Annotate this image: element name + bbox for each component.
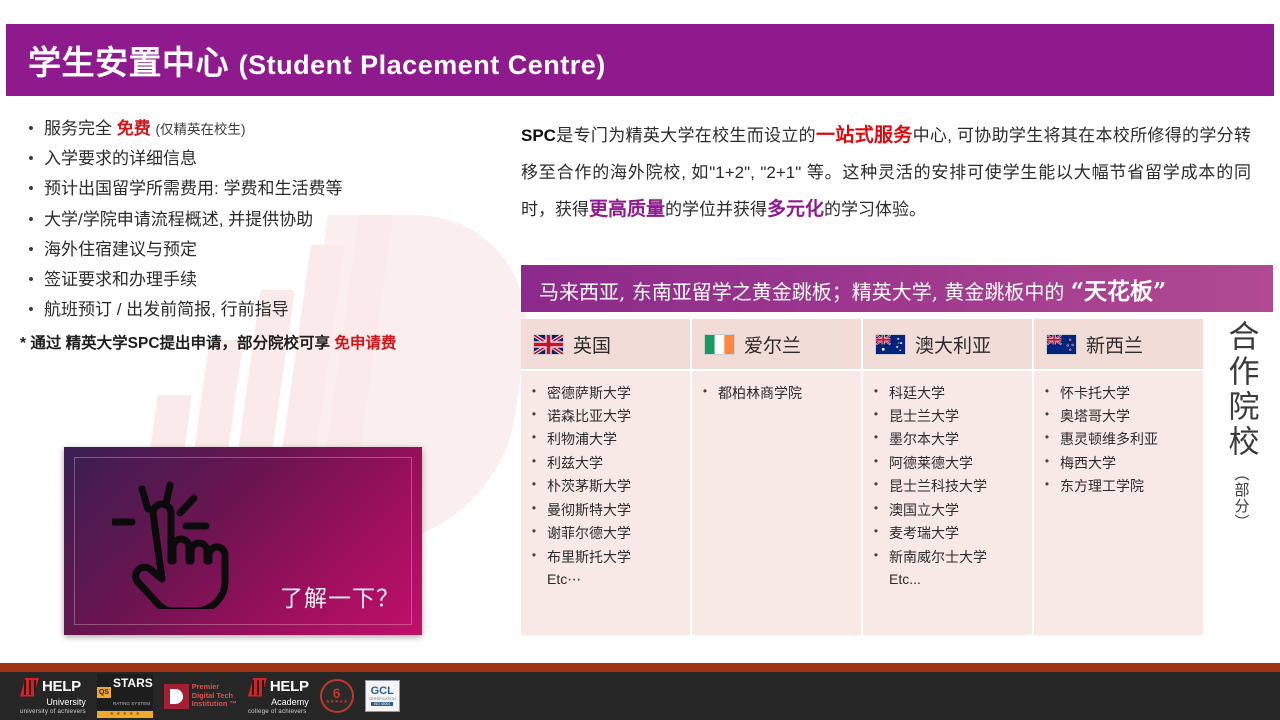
bullet-dot-icon: •	[18, 211, 44, 229]
etc-label: Etc⋯	[521, 569, 690, 588]
bullet-dot-icon: •	[863, 430, 889, 446]
list-item-text: 服务完全	[44, 119, 117, 138]
table-header-ireland: 爱尔兰	[692, 319, 861, 371]
table-header-australia: 澳大利亚	[863, 319, 1032, 371]
list-item: •怀卡托大学	[1034, 381, 1203, 404]
bullet-dot-icon: •	[521, 548, 547, 564]
bullet-dot-icon: •	[863, 384, 889, 400]
paragraph-highlight-one-stop: 一站式服务	[816, 125, 913, 146]
list-item: •墨尔本大学	[863, 428, 1032, 451]
university-name: 利物浦大学	[547, 430, 690, 448]
bullet-dot-icon: •	[18, 120, 44, 138]
six-star-stars: ★★★★★	[325, 700, 347, 705]
table-header-uk: 英国	[521, 319, 690, 371]
bullet-dot-icon: •	[1034, 430, 1060, 446]
list-item: • 预计出国留学所需费用: 学费和生活费等	[18, 180, 508, 199]
bullet-dot-icon: •	[863, 454, 889, 470]
premier-digital-tech-institution-logo: Premier Digital Tech Institution ™	[164, 679, 237, 713]
pdti-line-3: Institution ™	[192, 699, 237, 708]
gcl-iso: ISO 45001	[371, 702, 393, 706]
page-title-cn: 学生安置中心	[28, 44, 229, 81]
university-list-ireland: •都柏林商学院	[692, 371, 861, 635]
help-university-word: HELP	[42, 680, 81, 694]
page-title: 学生安置中心 (Student Placement Centre)	[6, 36, 606, 84]
golden-springboard-banner: 马来西亚, 东南亚留学之黄金跳板；精英大学, 黄金跳板中的 “天花板”	[521, 265, 1273, 312]
paragraph-part-3: 的学位并获得	[665, 200, 767, 219]
paragraph-highlight-diverse: 多元化	[767, 199, 824, 220]
list-item-suffix: (仅精英在校生)	[155, 122, 245, 137]
list-item: •朴茨茅斯大学	[521, 475, 690, 498]
flag-newzealand-icon	[1046, 334, 1077, 355]
paragraph-spc-label: SPC	[521, 126, 556, 145]
etc-label: Etc...	[863, 569, 1032, 587]
bullet-dot-icon: •	[521, 407, 547, 423]
university-name: 利兹大学	[547, 454, 690, 472]
university-name: 昆士兰科技大学	[889, 477, 1032, 495]
bullet-dot-icon: •	[863, 477, 889, 493]
university-name: 东方理工学院	[1060, 477, 1203, 495]
university-name: 麦考瑞大学	[889, 524, 1032, 542]
qs-stars-word: STARS	[113, 676, 153, 690]
bullet-dot-icon: •	[863, 524, 889, 540]
bullet-dot-icon: •	[521, 501, 547, 517]
bullet-dot-icon: •	[18, 180, 44, 198]
partner-schools-vertical-label: 合作院校 （部分）	[1215, 320, 1267, 530]
spc-description-paragraph: SPC是专门为精英大学在校生而设立的一站式服务中心, 可协助学生将其在本校所修得…	[521, 117, 1251, 230]
university-list-uk: •密德萨斯大学 •诺森比亚大学 •利物浦大学 •利兹大学 •朴茨茅斯大学 •曼彻…	[521, 371, 690, 635]
bullet-dot-icon: •	[1034, 454, 1060, 470]
list-item: •麦考瑞大学	[863, 522, 1032, 545]
list-item: •昆士兰科技大学	[863, 475, 1032, 498]
list-item: •曼彻斯特大学	[521, 498, 690, 521]
list-item-label: 入学要求的详细信息	[44, 150, 508, 169]
bullet-dot-icon: •	[18, 241, 44, 259]
bullet-dot-icon: •	[863, 501, 889, 517]
list-item: •布里斯托大学	[521, 545, 690, 568]
bullet-dot-icon: •	[18, 271, 44, 289]
list-item: •诺森比亚大学	[521, 404, 690, 427]
list-item: •新南威尔士大学	[863, 545, 1032, 568]
flag-australia-icon	[875, 334, 906, 355]
learn-more-promo-card[interactable]: 了解一下？	[64, 447, 422, 635]
university-name: 曼彻斯特大学	[547, 501, 690, 519]
application-fee-note-highlight: 免申请费	[334, 335, 396, 352]
list-item: •科廷大学	[863, 381, 1032, 404]
paragraph-part-1: 是专门为精英大学在校生而设立的	[556, 126, 816, 145]
list-item-label: 服务完全 免费 (仅精英在校生)	[44, 120, 508, 139]
banner-text: 马来西亚, 东南亚留学之黄金跳板；精英大学, 黄金跳板中的 “天花板”	[521, 272, 1166, 306]
university-name: 墨尔本大学	[889, 430, 1032, 448]
pdti-mark-icon	[164, 684, 189, 709]
list-item-label: 大学/学院申请流程概述, 并提供协助	[44, 211, 508, 230]
flag-ireland-icon	[704, 334, 735, 355]
country-name-ireland: 爱尔兰	[744, 331, 801, 358]
qs-stars-logo: QS STARS RATING SYSTEM ★★★★★	[97, 679, 153, 713]
university-name: 新南威尔士大学	[889, 548, 1032, 566]
bullet-dot-icon: •	[863, 407, 889, 423]
footer-bar: HELP University university of achievers …	[0, 672, 1280, 720]
university-name: 澳国立大学	[889, 501, 1032, 519]
paragraph-highlight-quality: 更高质量	[589, 199, 665, 220]
slide-title-bar: 学生安置中心 (Student Placement Centre)	[6, 24, 1274, 96]
university-name: 科廷大学	[889, 384, 1032, 402]
partner-universities-table: 英国 •密德萨斯大学 •诺森比亚大学 •利物浦大学 •利兹大学 •朴茨茅斯大学 …	[521, 319, 1203, 635]
list-item-label: 签证要求和办理手续	[44, 271, 508, 290]
list-item: •东方理工学院	[1034, 475, 1203, 498]
list-item: • 入学要求的详细信息	[18, 150, 508, 169]
page-title-en: (Student Placement Centre)	[239, 50, 606, 80]
country-name-australia: 澳大利亚	[915, 331, 991, 358]
list-item: • 签证要求和办理手续	[18, 271, 508, 290]
list-item: • 大学/学院申请流程概述, 并提供协助	[18, 211, 508, 230]
list-item-label: 海外住宿建议与预定	[44, 241, 508, 260]
list-item: •昆士兰大学	[863, 404, 1032, 427]
university-name: 昆士兰大学	[889, 407, 1032, 425]
qs-badge: QS	[97, 687, 111, 698]
application-fee-note: * 通过 精英大学SPC提出申请，部分院校可享 免申请费	[18, 331, 508, 353]
qs-stars-rating: ★★★★★	[97, 711, 153, 718]
help-university-sub: University	[20, 697, 86, 707]
university-name: 阿德莱德大学	[889, 454, 1032, 472]
bullet-dot-icon: •	[521, 524, 547, 540]
banner-emphasis-text: “天花板”	[1071, 278, 1166, 305]
bullet-dot-icon: •	[521, 477, 547, 493]
table-column-uk: 英国 •密德萨斯大学 •诺森比亚大学 •利物浦大学 •利兹大学 •朴茨茅斯大学 …	[521, 319, 692, 635]
bullet-dot-icon: •	[1034, 384, 1060, 400]
list-item: •阿德莱德大学	[863, 451, 1032, 474]
six-star-rating-logo: 6 ★★★★★	[320, 679, 354, 713]
gcl-word: GCL	[371, 686, 394, 697]
university-name: 布里斯托大学	[547, 548, 690, 566]
gcl-sub: CERTIFICATION	[369, 697, 396, 701]
bullet-dot-icon: •	[1034, 407, 1060, 423]
list-item-label: 航班预订 / 出发前简报, 行前指导	[44, 301, 508, 320]
bullet-dot-icon: •	[692, 384, 718, 400]
list-item: •密德萨斯大学	[521, 381, 690, 404]
footer-accent-bar	[0, 663, 1280, 672]
help-mark-icon	[20, 678, 39, 697]
vertical-label-main: 合作院校	[1226, 320, 1257, 460]
university-name: 惠灵顿维多利亚	[1060, 430, 1203, 448]
country-name-uk: 英国	[573, 331, 611, 358]
help-university-logo: HELP University university of achievers	[20, 679, 86, 713]
gcl-logo: GCL CERTIFICATION ISO 45001	[365, 679, 400, 713]
flag-uk-icon	[533, 334, 564, 355]
help-academy-logo: HELP Academy college of achievers	[248, 679, 309, 713]
list-item: •谢菲尔德大学	[521, 522, 690, 545]
university-name: 朴茨茅斯大学	[547, 477, 690, 495]
list-item: •利物浦大学	[521, 428, 690, 451]
list-item: • 航班预订 / 出发前简报, 行前指导	[18, 301, 508, 320]
list-item-highlight: 免费	[117, 119, 151, 138]
list-item: •利兹大学	[521, 451, 690, 474]
help-university-tagline: university of achievers	[20, 708, 86, 715]
bullet-dot-icon: •	[521, 430, 547, 446]
promo-caption: 了解一下？	[280, 579, 400, 613]
university-list-australia: •科廷大学 •昆士兰大学 •墨尔本大学 •阿德莱德大学 •昆士兰科技大学 •澳国…	[863, 371, 1032, 635]
help-academy-tagline: college of achievers	[248, 708, 309, 715]
list-item: •澳国立大学	[863, 498, 1032, 521]
help-academy-sub: Academy	[248, 697, 309, 707]
list-item: • 海外住宿建议与预定	[18, 241, 508, 260]
list-item: • 服务完全 免费 (仅精英在校生)	[18, 120, 508, 139]
list-item: •都柏林商学院	[692, 381, 861, 404]
university-name: 密德萨斯大学	[547, 384, 690, 402]
bullet-dot-icon: •	[18, 301, 44, 319]
bullet-dot-icon: •	[18, 150, 44, 168]
list-item: •奥塔哥大学	[1034, 404, 1203, 427]
university-list-newzealand: •怀卡托大学 •奥塔哥大学 •惠灵顿维多利亚 •梅西大学 •东方理工学院	[1034, 371, 1203, 635]
table-column-australia: 澳大利亚 •科廷大学 •昆士兰大学 •墨尔本大学 •阿德莱德大学 •昆士兰科技大…	[863, 319, 1034, 635]
slide-root: 学生安置中心 (Student Placement Centre) • 服务完全…	[0, 0, 1280, 720]
table-column-ireland: 爱尔兰 •都柏林商学院	[692, 319, 863, 635]
university-name: 诺森比亚大学	[547, 407, 690, 425]
university-name: 都柏林商学院	[718, 384, 861, 402]
university-name: 奥塔哥大学	[1060, 407, 1203, 425]
university-name: 梅西大学	[1060, 454, 1203, 472]
click-hand-icon	[112, 479, 232, 609]
vertical-label-sub: （部分）	[1231, 466, 1252, 530]
university-name: 怀卡托大学	[1060, 384, 1203, 402]
bullet-dot-icon: •	[863, 548, 889, 564]
country-name-newzealand: 新西兰	[1086, 331, 1143, 358]
banner-lead-text: 马来西亚, 东南亚留学之黄金跳板；精英大学, 黄金跳板中的	[539, 280, 1071, 304]
help-mark-icon	[248, 678, 267, 697]
table-header-newzealand: 新西兰	[1034, 319, 1203, 371]
list-item-label: 预计出国留学所需费用: 学费和生活费等	[44, 180, 508, 199]
service-bullet-list: • 服务完全 免费 (仅精英在校生) • 入学要求的详细信息 • 预计出国留学所…	[18, 120, 508, 353]
bullet-dot-icon: •	[521, 384, 547, 400]
list-item: •惠灵顿维多利亚	[1034, 428, 1203, 451]
university-name: 谢菲尔德大学	[547, 524, 690, 542]
footer-logo-strip: HELP University university of achievers …	[20, 676, 400, 716]
qs-stars-sub: RATING SYSTEM	[113, 701, 150, 706]
bullet-dot-icon: •	[521, 454, 547, 470]
paragraph-part-4: 的学习体验。	[824, 200, 926, 219]
help-academy-word: HELP	[270, 680, 309, 694]
application-fee-note-text: * 通过 精英大学SPC提出申请，部分院校可享	[20, 335, 334, 352]
table-column-newzealand: 新西兰 •怀卡托大学 •奥塔哥大学 •惠灵顿维多利亚 •梅西大学 •东方理工学院	[1034, 319, 1203, 635]
list-item: •梅西大学	[1034, 451, 1203, 474]
bullet-dot-icon: •	[1034, 477, 1060, 493]
